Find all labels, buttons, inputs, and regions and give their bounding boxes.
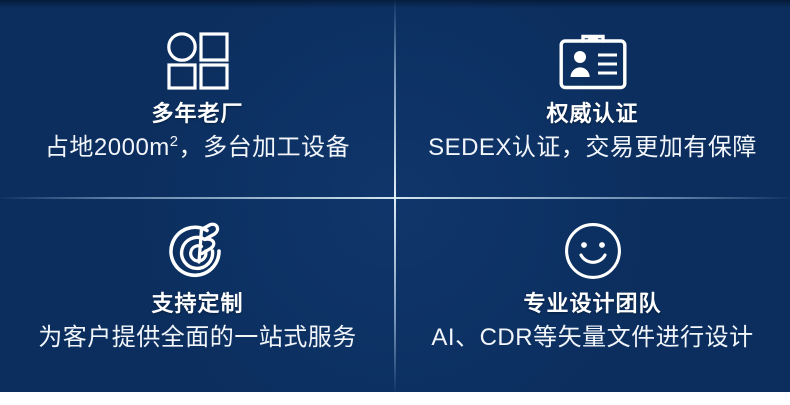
feature-subtitle: 占地2000m2，多台加工设备	[45, 132, 350, 163]
bottom-white-strip	[0, 392, 790, 405]
feature-subtitle-suffix: ，多台加工设备	[179, 134, 351, 161]
feature-subtitle: 为客户提供全面的一站式服务	[38, 322, 357, 353]
grid-squares-icon	[167, 28, 229, 94]
id-badge-icon	[559, 28, 627, 94]
feature-title: 权威认证	[546, 100, 638, 128]
feature-subtitle: SEDEX认证，交易更加有保障	[428, 132, 757, 163]
feature-subtitle: AI、CDR等矢量文件进行设计	[431, 322, 753, 353]
feature-title: 支持定制	[151, 290, 243, 318]
feature-grid: 多年老厂 占地2000m2，多台加工设备 权威认证 SEDEX认证，交易更加有保…	[0, 0, 790, 392]
feature-cell-customization: 支持定制 为客户提供全面的一站式服务	[0, 198, 395, 392]
feature-title: 多年老厂	[151, 100, 243, 128]
feature-cell-factory: 多年老厂 占地2000m2，多台加工设备	[0, 0, 395, 198]
feature-banner: 多年老厂 占地2000m2，多台加工设备 权威认证 SEDEX认证，交易更加有保…	[0, 0, 790, 392]
feature-cell-design-team: 专业设计团队 AI、CDR等矢量文件进行设计	[395, 198, 790, 392]
feature-subtitle-prefix: 占地2000m	[45, 134, 170, 161]
custom-brand-c-icon	[167, 218, 229, 284]
smiley-face-icon	[564, 218, 622, 284]
feature-title: 专业设计团队	[523, 290, 661, 318]
feature-subtitle-superscript: 2	[170, 134, 179, 150]
feature-cell-certification: 权威认证 SEDEX认证，交易更加有保障	[395, 0, 790, 198]
